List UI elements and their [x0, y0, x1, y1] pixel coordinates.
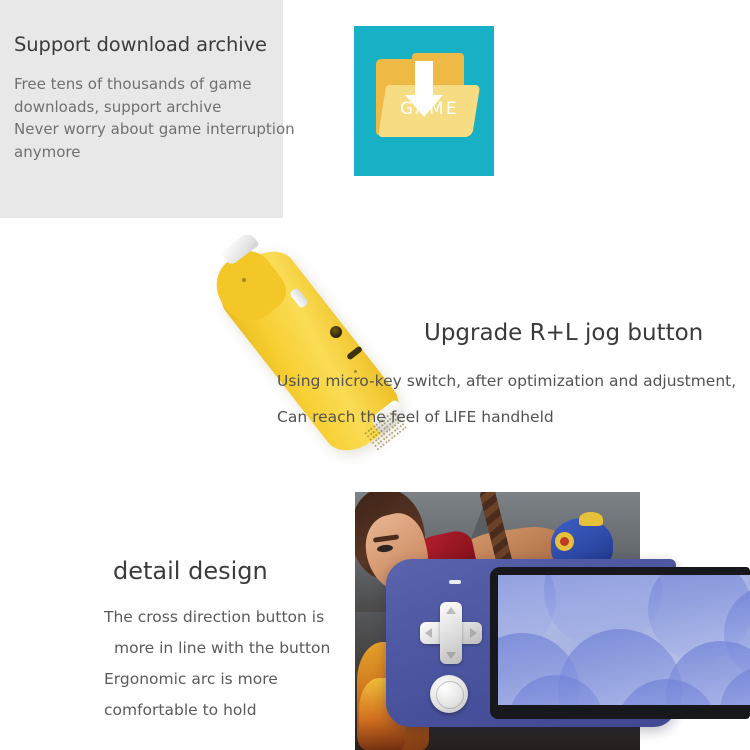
detail-line-2: more in line with the button: [104, 633, 354, 664]
archive-heading: Support download archive: [14, 33, 267, 56]
analog-stick-icon: [430, 675, 468, 713]
archive-line-2: downloads, support archive: [14, 96, 286, 119]
folder-graphic: GAME: [376, 59, 472, 143]
artwork-helmet-crest: [579, 512, 603, 526]
detail-line-4: comfortable to hold: [104, 695, 354, 726]
download-arrow-icon: [415, 61, 433, 97]
product-feature-page: Support download archive Free tens of th…: [0, 0, 750, 750]
headphone-jack-icon: [330, 326, 342, 338]
jog-button-heading: Upgrade R+L jog button: [424, 320, 703, 346]
speaker-slot-icon: [449, 580, 461, 584]
console-screen: [498, 575, 750, 705]
detail-design-heading: detail design: [113, 557, 268, 585]
download-archive-panel: Support download archive Free tens of th…: [0, 0, 283, 218]
screen-bezel: [490, 567, 750, 719]
archive-description: Free tens of thousands of game downloads…: [14, 73, 286, 163]
dpad-right-arrow-icon: [470, 628, 477, 638]
game-download-icon: GAME: [354, 26, 494, 176]
artwork-helmet-emblem: [555, 532, 574, 551]
jog-button-line-1: Using micro-key switch, after optimizati…: [277, 372, 736, 390]
reset-pinhole-icon: [242, 278, 246, 282]
dpad-icon: [420, 602, 482, 664]
blue-handheld-console: [386, 559, 750, 727]
jog-button-line-2: Can reach the feel of LIFE handheld: [277, 408, 554, 426]
detail-line-3: Ergonomic arc is more: [104, 664, 354, 695]
dpad-up-arrow-icon: [446, 607, 456, 614]
detail-design-description: The cross direction button is more in li…: [104, 602, 354, 726]
detail-line-1: The cross direction button is: [104, 602, 354, 633]
archive-line-4: anymore: [14, 141, 286, 164]
dpad-down-arrow-icon: [446, 652, 456, 659]
yellow-handheld-console: [196, 240, 424, 462]
archive-line-1: Free tens of thousands of game: [14, 73, 286, 96]
archive-line-3: Never worry about game interruption: [14, 118, 286, 141]
dpad-left-arrow-icon: [425, 628, 432, 638]
